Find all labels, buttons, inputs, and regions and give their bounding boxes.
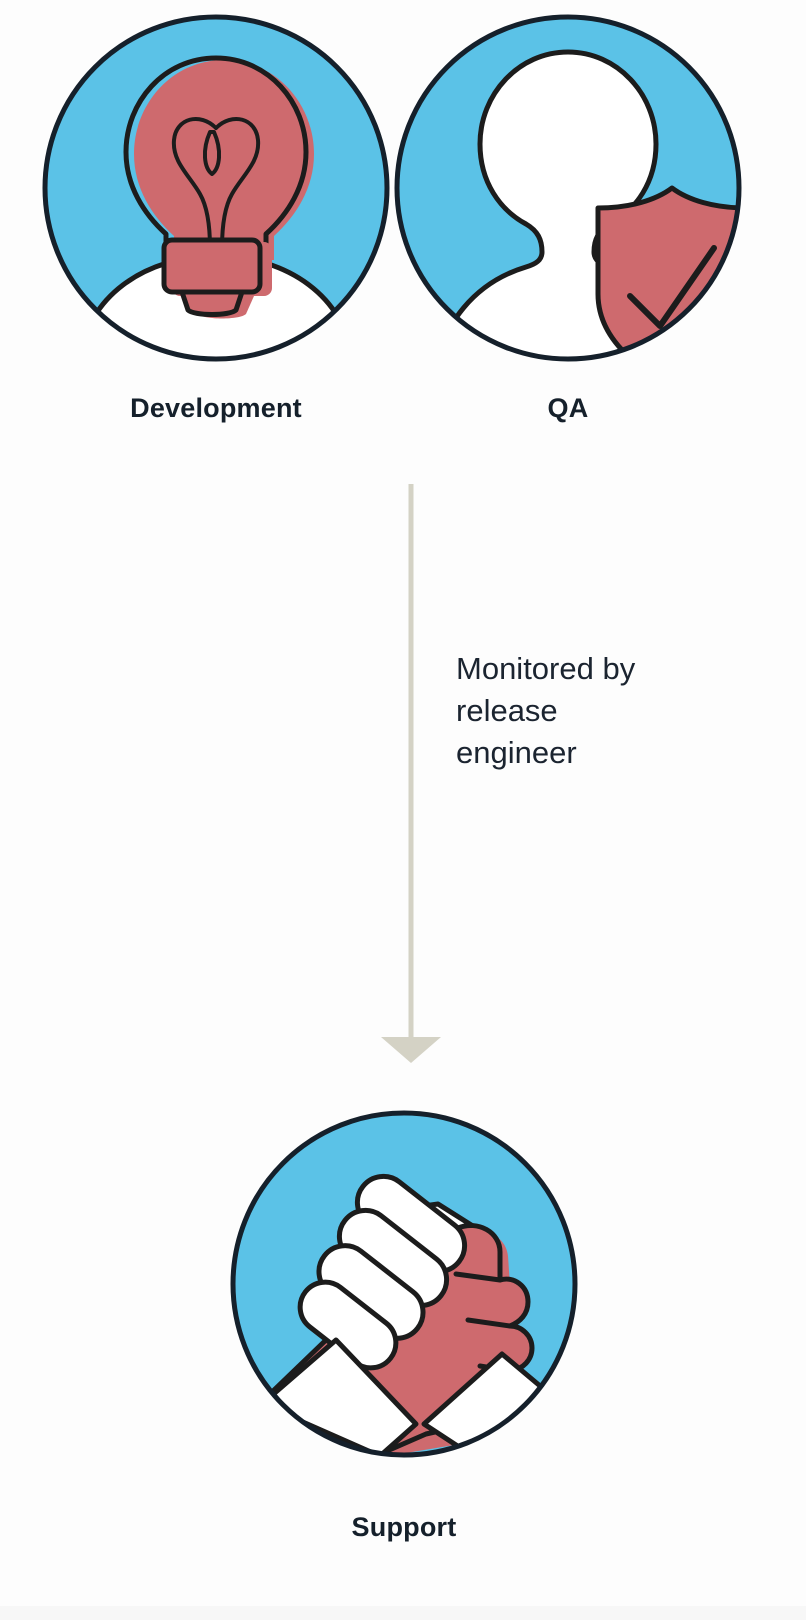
person-shield-check-icon xyxy=(392,8,744,368)
node-label-development: Development xyxy=(40,393,392,424)
node-qa[interactable]: QA xyxy=(392,8,744,440)
annotation-line-1: Monitored by xyxy=(456,648,726,690)
connector-arrow-down xyxy=(370,480,460,1070)
bottom-edge-strip xyxy=(0,1606,806,1620)
node-development[interactable]: Development xyxy=(40,8,392,440)
node-label-qa: QA xyxy=(392,393,744,424)
clasped-hands-icon xyxy=(228,1104,580,1464)
annotation-line-2: release xyxy=(456,690,726,732)
lightbulb-person-icon xyxy=(40,8,392,368)
connector-annotation: Monitored by release engineer xyxy=(456,648,726,774)
annotation-line-3: engineer xyxy=(456,732,726,774)
node-support[interactable]: Support xyxy=(228,1104,580,1564)
node-label-support: Support xyxy=(228,1512,580,1543)
diagram-canvas: Development QA xyxy=(0,0,806,1620)
